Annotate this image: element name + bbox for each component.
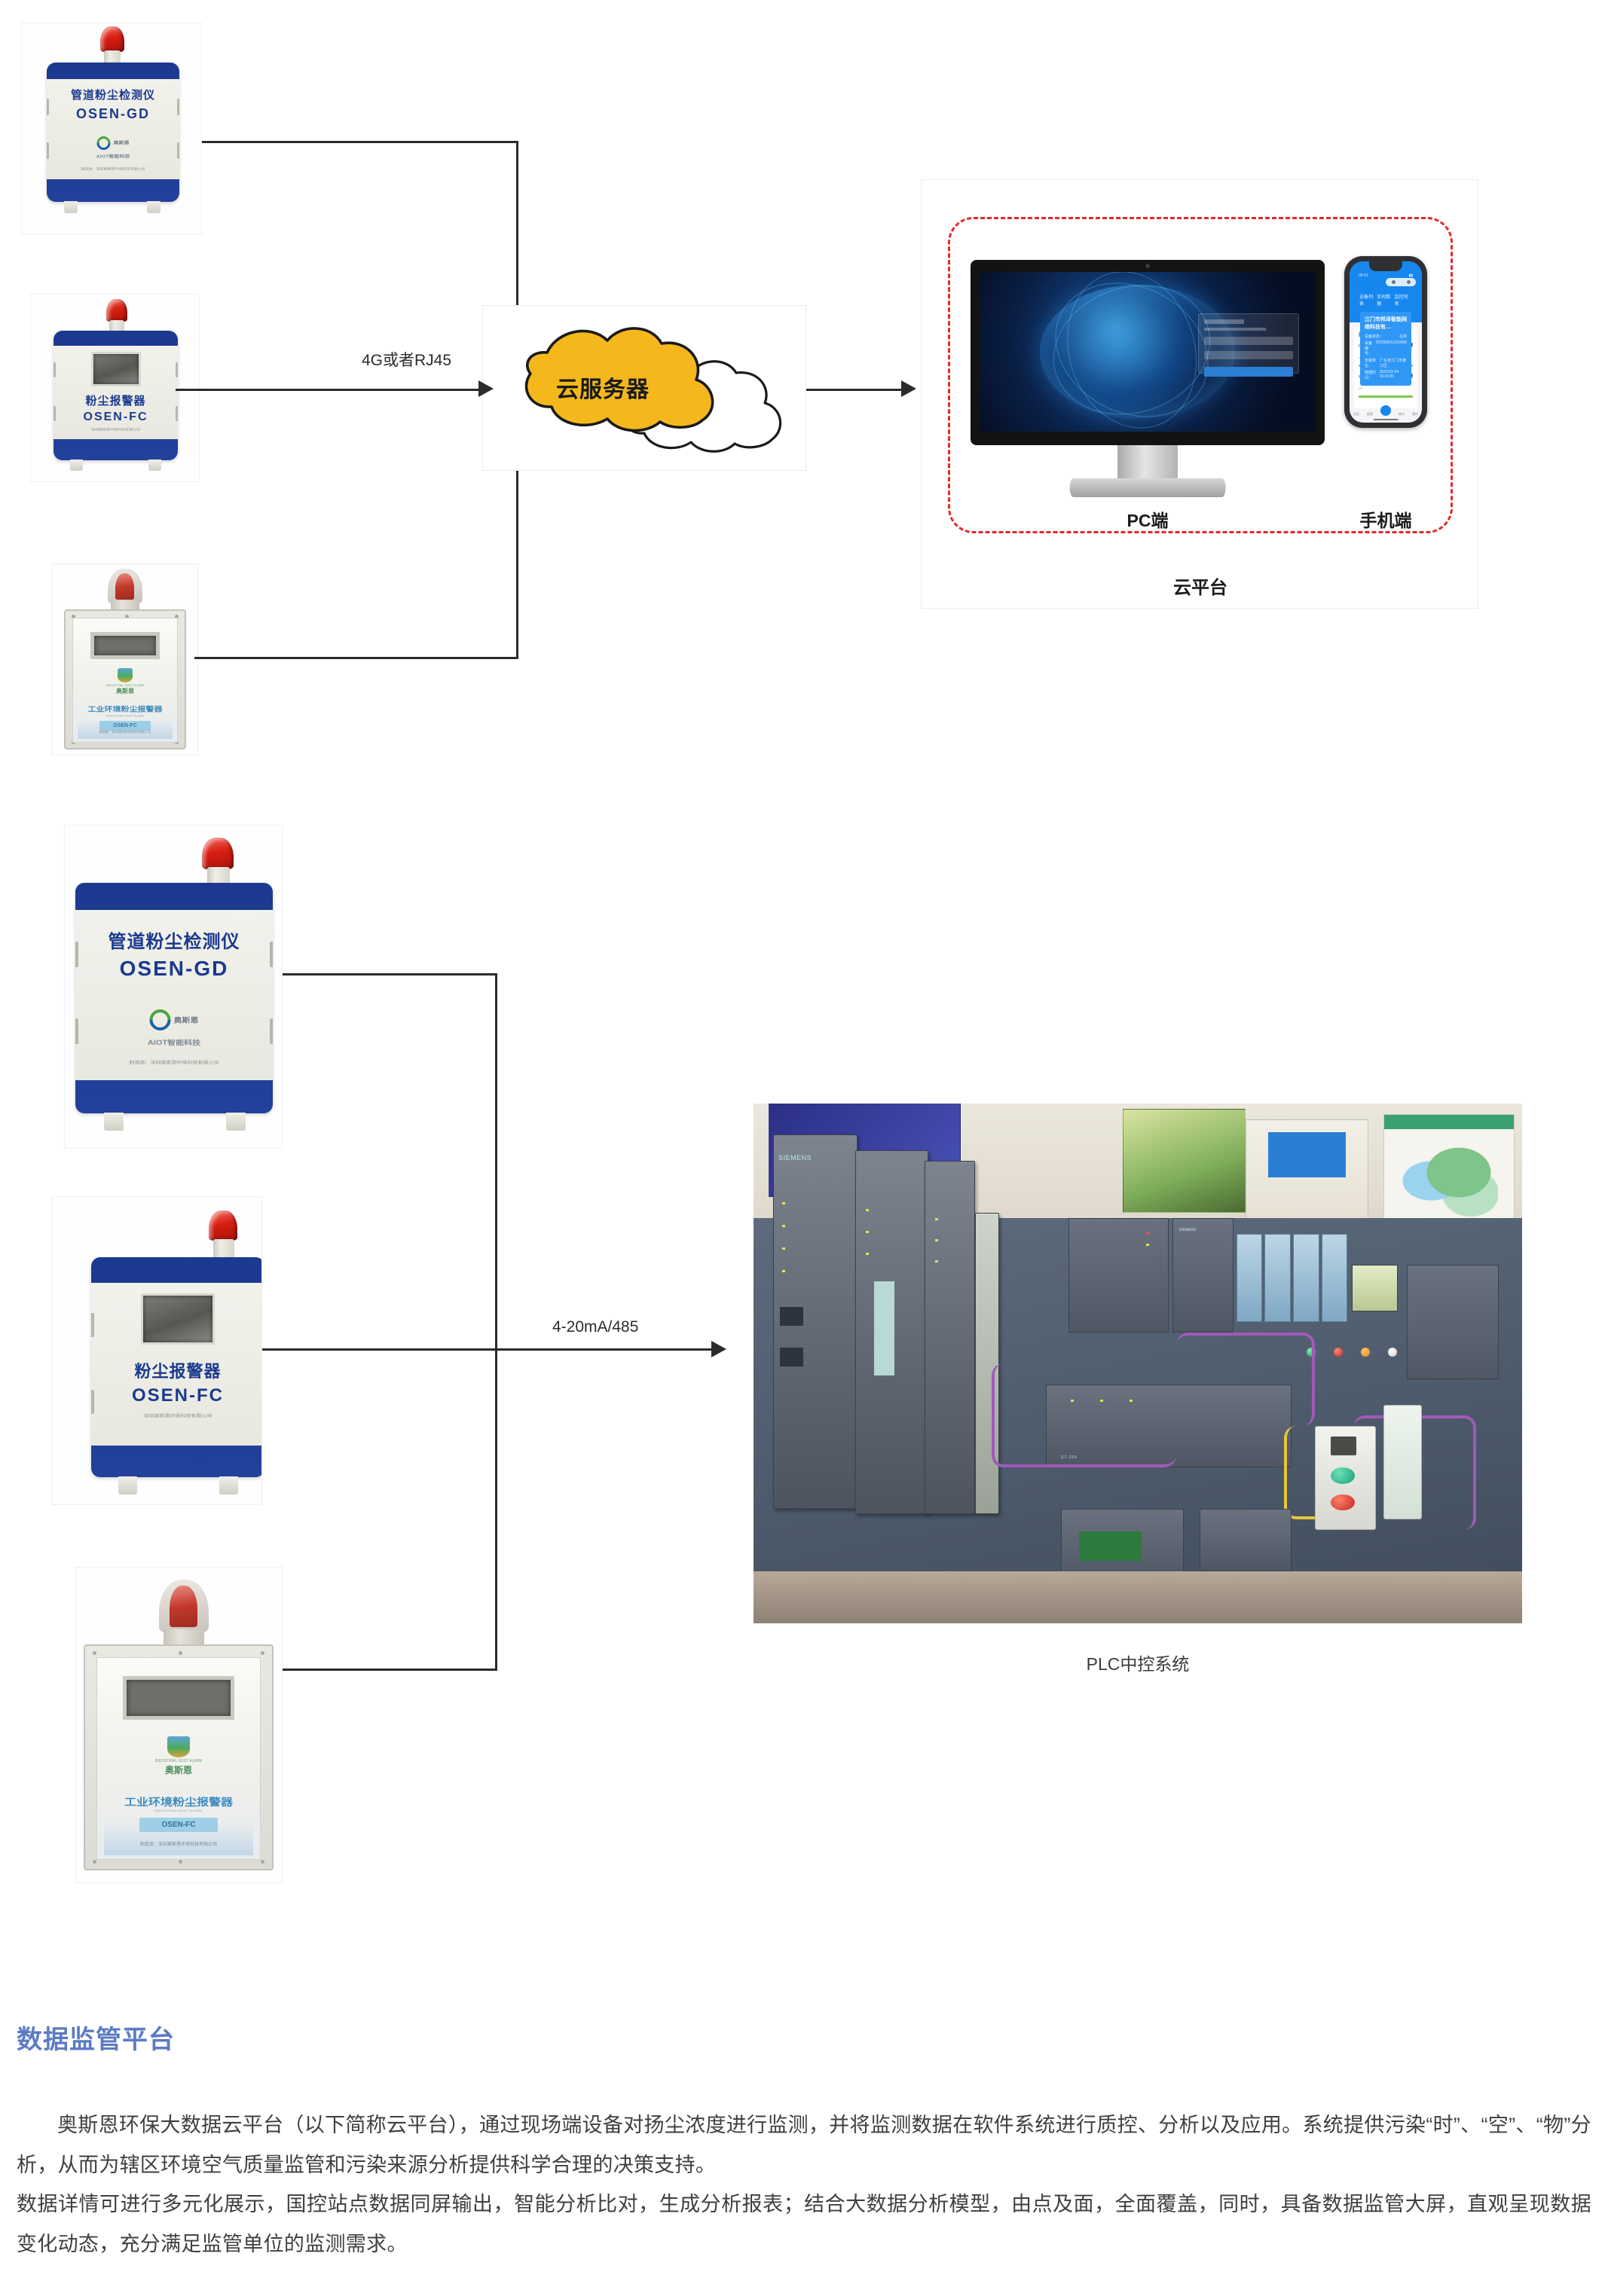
connector-line — [194, 657, 518, 659]
monitor-screen — [980, 272, 1316, 432]
device-foot — [64, 201, 78, 213]
start-button[interactable] — [1331, 1467, 1355, 1484]
connector-line — [262, 1348, 497, 1351]
device-title-cn: 粉尘报警器 — [53, 392, 178, 408]
side-tab — [91, 1390, 94, 1414]
device-enclosure: 管道粉尘检测仪 OSEN-GD 奥斯恩 AIOT智能科技 制造商：深圳奥斯恩环保… — [47, 63, 179, 202]
device-maker: 制造商：深圳奥斯恩环保科技有限公司 — [47, 167, 179, 172]
nav-item[interactable]: 报表 — [1367, 412, 1373, 417]
connector-line — [283, 973, 497, 975]
monitor-bezel — [971, 260, 1325, 445]
plc-io-slot — [1322, 1234, 1348, 1322]
logo-subtitle: AIOT智能科技 — [75, 1038, 273, 1048]
device-display — [91, 352, 141, 386]
alarm-beacon-icon — [108, 569, 142, 603]
device-title-cn: 粉尘报警器 — [91, 1358, 262, 1382]
device-display — [123, 1676, 234, 1720]
plc-control-system-photo: SIEMENS SIEMENS — [754, 1104, 1522, 1623]
phone-notch — [1369, 261, 1402, 271]
phone-device-card[interactable]: 江门市邦泽智能网络科技有… 设备状态： 在线 设备编号： 20230901120… — [1360, 312, 1411, 386]
device-card-osen-gd-top: 管道粉尘检测仪 OSEN-GD 奥斯恩 AIOT智能科技 制造商：深圳奥斯恩环保… — [21, 23, 202, 235]
plc-power-supply — [1200, 1509, 1292, 1571]
monitor-stand-base — [1070, 478, 1226, 497]
device-foot — [104, 1113, 124, 1131]
logo-word: 奥斯恩 — [130, 1763, 228, 1776]
device-display — [141, 1293, 215, 1345]
arrow-to-platform-icon — [901, 380, 916, 397]
device-subtitle: INDUSTRIAL DUST ALARM — [73, 715, 176, 718]
cloud-platform-caption: 云平台 — [948, 572, 1453, 599]
side-tab — [75, 1018, 78, 1044]
side-tab — [47, 99, 49, 115]
device-foot — [148, 460, 161, 471]
logo-subtitle: AIOT智能科技 — [47, 154, 179, 160]
phone-field-label: 设备状态： — [1365, 334, 1383, 339]
plc-cpu-module — [1068, 1218, 1169, 1333]
device-face-panel: 粉尘报警器 OSEN-FC 深圳奥斯恩环保科技有限公司 — [91, 1283, 262, 1446]
plc-drive-module — [1407, 1265, 1499, 1379]
phone-field-label: 安装单位： — [1365, 358, 1380, 368]
body-copy: 奥斯恩环保大数据云平台（以下简称云平台），通过现场端设备对扬尘浓度进行监测，并将… — [17, 2105, 1591, 2264]
logo-word: 奥斯恩 — [174, 1015, 199, 1025]
device-card-osen-gd-bottom: 管道粉尘检测仪 OSEN-GD 奥斯恩 AIOT智能科技 制造商：深圳奥斯恩环保… — [64, 825, 283, 1149]
phone-field-row: 数据时间： 2023-03-24 16:24:00 — [1365, 370, 1407, 380]
alarm-beacon-icon — [159, 1580, 209, 1632]
wall-poster — [1123, 1109, 1246, 1213]
cable-purple — [1176, 1333, 1315, 1426]
phone-field-value: 广东省江门市蓬江区 — [1380, 358, 1407, 368]
brand-logo: INDUSTRIAL DUST ALARM 奥斯恩 — [95, 668, 155, 695]
connector-line — [806, 389, 904, 391]
device-enclosure: INDUSTRIAL DUST ALARM 奥斯恩 工业环境粉尘报警器 INDU… — [64, 609, 186, 750]
device-title-cn: 管道粉尘检测仪 — [47, 87, 179, 102]
nav-item[interactable]: 统计 — [1399, 412, 1405, 417]
pc-monitor — [971, 260, 1325, 497]
device-foot — [70, 460, 83, 471]
device-model: OSEN-GD — [47, 106, 179, 122]
device-face-panel: 管道粉尘检测仪 OSEN-GD 奥斯恩 AIOT智能科技 制造商：深圳奥斯恩环保… — [75, 910, 273, 1080]
device-maker: 深圳奥斯恩环保科技有限公司 — [91, 1413, 262, 1419]
home-indicator — [1374, 419, 1399, 420]
brand-logo: 奥斯恩 — [97, 136, 130, 150]
alarm-beacon-icon — [202, 838, 234, 869]
side-tab — [177, 142, 179, 159]
cloud-server-label: 云服务器 — [556, 371, 650, 404]
mobile-phone: 09:41▮▮ 设备列表 实时数据 监控列表 江门市邦泽智能网络科技有… 设备状… — [1344, 256, 1427, 428]
phone-field-row: 设备状态： 在线 — [1365, 334, 1407, 339]
connection-label-420ma: 4-20mA/485 — [552, 1318, 638, 1336]
nav-item[interactable]: 我的 — [1412, 412, 1418, 417]
alarm-beacon-icon — [209, 1211, 237, 1241]
side-tab — [91, 1313, 94, 1337]
plc-cpu-module: SIEMENS — [1172, 1218, 1234, 1333]
wall-poster — [1246, 1119, 1368, 1223]
stop-button[interactable] — [1331, 1495, 1355, 1511]
monitor-stand-neck — [1117, 445, 1178, 481]
phone-field-value: 2023-03-24 16:24:00 — [1380, 370, 1407, 380]
measure-unit: dB — [1359, 386, 1362, 390]
phone-field-value: 202309011200008 — [1376, 340, 1407, 356]
connector-line — [422, 389, 482, 391]
device-enclosure: INDUSTRIAL DUST ALARM 奥斯恩 工业环境粉尘报警器 INDU… — [84, 1644, 274, 1870]
phone-field-row: 安装单位： 广东省江门市蓬江区 — [1365, 358, 1407, 368]
connector-line — [495, 1348, 714, 1351]
shield-icon — [118, 668, 133, 682]
device-model: OSEN-FC — [53, 411, 178, 424]
device-subtitle: INDUSTRIAL DUST ALARM — [97, 1809, 260, 1812]
side-tab — [53, 406, 56, 421]
section-heading: 数据监管平台 — [17, 2019, 175, 2056]
brand-logo: 奥斯恩 — [150, 1009, 199, 1030]
push-button-station[interactable] — [1315, 1426, 1377, 1530]
shield-icon — [167, 1736, 190, 1757]
device-title-cn: 管道粉尘检测仪 — [75, 927, 273, 953]
side-tab — [53, 362, 56, 377]
device-card-industrial-alarm-bottom: INDUSTRIAL DUST ALARM 奥斯恩 工业环境粉尘报警器 INDU… — [75, 1567, 283, 1883]
phone-field-value: 在线 — [1399, 334, 1407, 339]
device-model: OSEN-FC — [91, 1385, 262, 1406]
device-card-industrial-alarm-top: INDUSTRIAL DUST ALARM 奥斯恩 工业环境粉尘报警器 INDU… — [51, 563, 198, 756]
logo-ring-icon — [94, 133, 113, 152]
phone-tabs[interactable]: 设备列表 实时数据 监控列表 — [1356, 293, 1416, 307]
connector-line — [495, 973, 497, 1670]
brand-logo: INDUSTRIAL DUST ALARM 奥斯恩 — [130, 1736, 228, 1776]
side-tab — [47, 142, 49, 159]
arrow-to-plc-icon — [711, 1341, 726, 1357]
terminal-strip — [1383, 1405, 1422, 1519]
phone-tab[interactable]: 实时数据 — [1377, 293, 1394, 307]
side-tab — [261, 1313, 262, 1337]
device-enclosure: 管道粉尘检测仪 OSEN-GD 奥斯恩 AIOT智能科技 制造商：深圳奥斯恩环保… — [75, 883, 273, 1113]
pilot-lamp-white — [1388, 1348, 1397, 1357]
nav-label: 历史 — [1353, 412, 1359, 416]
phone-bottom-nav[interactable]: 历史 报表 统计 我的 — [1350, 405, 1422, 417]
connection-label-4g: 4G或者RJ45 — [362, 348, 451, 371]
phone-capsule-buttons[interactable] — [1386, 278, 1416, 286]
nav-label: 我的 — [1412, 412, 1418, 416]
phone-card-title: 江门市邦泽智能网络科技有… — [1365, 316, 1407, 331]
logo-word: 奥斯恩 — [114, 140, 130, 147]
device-maker: 制造商：深圳奥斯恩环保科技有限公司 — [73, 730, 176, 734]
device-enclosure: 粉尘报警器 OSEN-FC 深圳奥斯恩环保科技有限公司 — [91, 1257, 262, 1477]
device-model: OSEN-GD — [75, 957, 273, 981]
device-title-cn: 工业环境粉尘报警器 — [97, 1794, 260, 1809]
plc-hmi-panel — [1352, 1265, 1398, 1311]
device-enclosure: 粉尘报警器 OSEN-FC 深圳奥斯恩环保科技有限公司 — [53, 331, 178, 460]
plc-rack-module — [925, 1161, 974, 1514]
device-foot — [147, 201, 160, 213]
device-foot — [219, 1476, 238, 1495]
side-tab — [177, 99, 179, 115]
logo-word: 奥斯恩 — [95, 687, 155, 695]
connector-line — [202, 141, 518, 143]
paragraph-2: 数据详情可进行多元化展示，国控站点数据同屏输出，智能分析比对，生成分析报表；结合… — [17, 2185, 1591, 2264]
device-maker: 制造商：深圳奥斯恩环保科技有限公司 — [97, 1840, 260, 1847]
pilot-lamp-amber — [1361, 1348, 1370, 1357]
beacon-base — [164, 1629, 204, 1646]
plc-rack-module — [855, 1150, 928, 1514]
plc-io-slot — [1293, 1234, 1319, 1322]
measure-bar — [1359, 395, 1413, 398]
pc-caption: PC端 — [971, 506, 1325, 532]
logo-ring-icon — [145, 1005, 176, 1035]
webcam-icon — [1145, 264, 1150, 268]
phone-tab[interactable]: 设备列表 — [1359, 293, 1377, 307]
side-tab — [270, 942, 273, 967]
device-maker: 深圳奥斯恩环保科技有限公司 — [53, 428, 178, 432]
nav-label: 统计 — [1399, 412, 1405, 416]
device-card-osen-fc-bottom: 粉尘报警器 OSEN-FC 深圳奥斯恩环保科技有限公司 — [51, 1196, 262, 1505]
cloud-server-graphic: 云服务器 — [488, 310, 801, 467]
paragraph-1: 奥斯恩环保大数据云平台（以下简称云平台），通过现场端设备对扬尘浓度进行监测，并将… — [17, 2105, 1591, 2185]
device-foot — [226, 1113, 246, 1131]
device-display — [90, 632, 160, 659]
side-tab — [261, 1390, 262, 1414]
device-card-osen-fc-top: 粉尘报警器 OSEN-FC 深圳奥斯恩环保科技有限公司 — [30, 294, 200, 482]
side-tab — [75, 942, 78, 967]
side-tab — [176, 406, 178, 421]
alarm-beacon-icon — [100, 26, 124, 52]
side-tab — [270, 1018, 273, 1044]
plc-rack-module — [975, 1213, 1000, 1514]
side-tab — [176, 362, 178, 377]
login-card — [1198, 313, 1299, 374]
phone-tab[interactable]: 监控列表 — [1395, 293, 1412, 307]
cable-purple — [992, 1363, 1176, 1467]
device-face-panel: 粉尘报警器 OSEN-FC 深圳奥斯恩环保科技有限公司 — [53, 346, 178, 439]
nav-item-active[interactable] — [1380, 405, 1391, 417]
phone-field-row: 设备编号： 202309011200008 — [1365, 340, 1407, 356]
plc-io-slot — [1237, 1234, 1263, 1322]
phone-field-label: 数据时间： — [1365, 370, 1380, 380]
nav-label: 报表 — [1367, 412, 1373, 416]
plc-rack-module: SIEMENS — [773, 1134, 857, 1509]
diagram-page: 管道粉尘检测仪 OSEN-GD 奥斯恩 AIOT智能科技 制造商：深圳奥斯恩环保… — [0, 0, 1608, 2296]
phone-screen: 09:41▮▮ 设备列表 实时数据 监控列表 江门市邦泽智能网络科技有… 设备状… — [1350, 261, 1422, 423]
device-face-panel: 管道粉尘检测仪 OSEN-GD 奥斯恩 AIOT智能科技 制造商：深圳奥斯恩环保… — [47, 79, 179, 179]
home-fab-icon[interactable] — [1380, 405, 1391, 416]
phone-field-label: 设备编号： — [1365, 340, 1376, 356]
device-maker: 制造商：深圳奥斯恩环保科技有限公司 — [75, 1060, 273, 1066]
plc-caption: PLC中控系统 — [754, 1650, 1522, 1675]
alarm-beacon-icon — [106, 299, 127, 322]
mobile-caption: 手机端 — [1325, 506, 1446, 532]
plc-io-slot — [1264, 1234, 1291, 1322]
device-title-cn: 工业环境粉尘报警器 — [73, 704, 176, 714]
device-foot — [118, 1476, 137, 1495]
nav-item[interactable]: 历史 — [1353, 412, 1359, 417]
connector-line — [283, 1669, 497, 1671]
